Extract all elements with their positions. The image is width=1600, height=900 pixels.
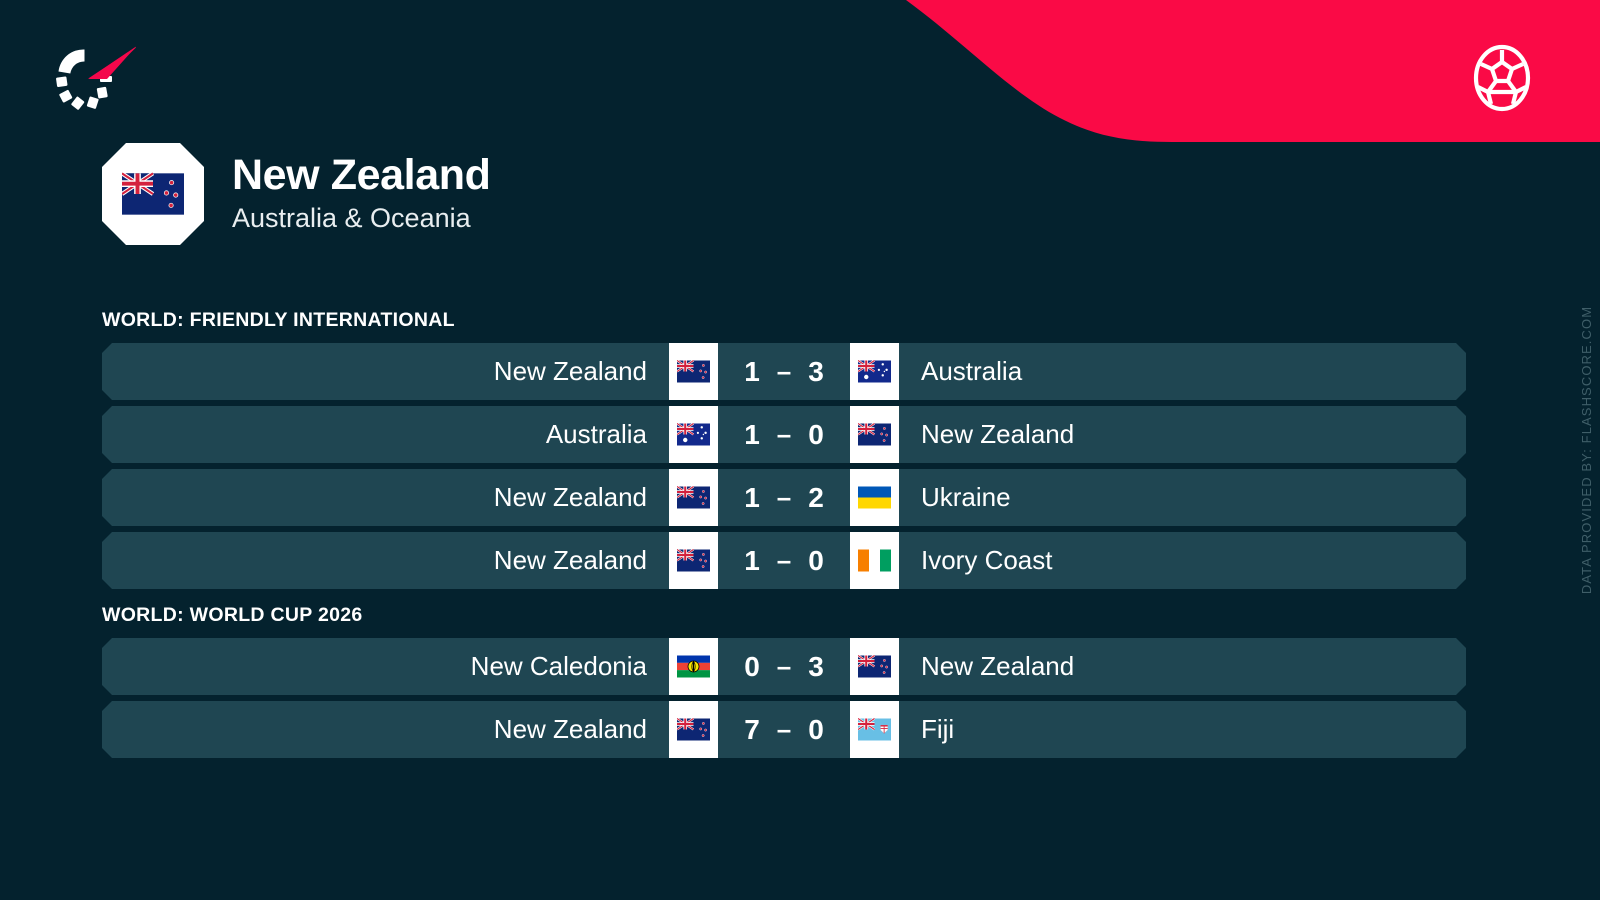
home-team-name: New Caledonia xyxy=(102,638,669,695)
home-team-name: New Zealand xyxy=(102,532,669,589)
match-row[interactable]: New Caledonia 0 – 3 xyxy=(102,638,1466,695)
soccer-ball-icon xyxy=(1466,42,1538,114)
away-team-name: Ivory Coast xyxy=(899,532,1466,589)
home-score: 1 xyxy=(744,419,760,451)
home-score: 0 xyxy=(744,651,760,683)
score-dash: – xyxy=(777,356,791,387)
data-provider-watermark: DATA PROVIDED BY: FLASHSCORE.COM xyxy=(1579,306,1594,594)
away-score: 0 xyxy=(808,714,824,746)
away-team-name: Australia xyxy=(899,343,1466,400)
away-team-flag-cell xyxy=(850,343,899,400)
away-team-name: New Zealand xyxy=(899,406,1466,463)
flag-australia xyxy=(858,360,891,383)
home-score: 1 xyxy=(744,482,760,514)
home-score: 1 xyxy=(744,545,760,577)
home-team-name: New Zealand xyxy=(102,343,669,400)
home-team-flag-cell xyxy=(669,532,718,589)
home-team-name: New Zealand xyxy=(102,469,669,526)
score-cell: 0 – 3 xyxy=(718,638,850,695)
team-name-block: New Zealand Australia & Oceania xyxy=(232,152,490,237)
team-flag-badge xyxy=(102,143,204,245)
home-score: 1 xyxy=(744,356,760,388)
match-row[interactable]: New Zealand 1 – 2 xyxy=(102,469,1466,526)
away-score: 3 xyxy=(808,651,824,683)
score-cell: 1 – 3 xyxy=(718,343,850,400)
home-score: 7 xyxy=(744,714,760,746)
flashscore-logo[interactable] xyxy=(44,36,144,116)
match-row[interactable]: New Zealand 1 – 0 xyxy=(102,532,1466,589)
soccer-ball-glyph xyxy=(1466,42,1538,114)
away-team-flag-cell xyxy=(850,701,899,758)
score-dash: – xyxy=(777,545,791,576)
away-team-name: Fiji xyxy=(899,701,1466,758)
flag-new-caledonia xyxy=(677,655,710,678)
section-title: WORLD: FRIENDLY INTERNATIONAL xyxy=(102,300,1466,343)
away-team-flag-cell xyxy=(850,406,899,463)
flag-new-zealand xyxy=(858,423,891,446)
home-team-flag-cell xyxy=(669,701,718,758)
away-team-flag-cell xyxy=(850,532,899,589)
team-header: New Zealand Australia & Oceania xyxy=(102,143,490,245)
flag-ivory-coast xyxy=(858,549,891,572)
flag-new-zealand xyxy=(122,172,184,216)
away-score: 3 xyxy=(808,356,824,388)
flag-new-zealand xyxy=(677,549,710,572)
score-dash: – xyxy=(777,714,791,745)
match-row[interactable]: New Zealand 1 – 3 xyxy=(102,343,1466,400)
flag-fiji xyxy=(858,718,891,741)
score-dash: – xyxy=(777,419,791,450)
home-team-flag-cell xyxy=(669,638,718,695)
flag-new-zealand xyxy=(858,655,891,678)
match-row[interactable]: New Zealand 7 – 0 xyxy=(102,701,1466,758)
away-team-name: New Zealand xyxy=(899,638,1466,695)
away-team-flag-cell xyxy=(850,638,899,695)
score-dash: – xyxy=(777,482,791,513)
flag-new-zealand xyxy=(677,486,710,509)
flashscore-logo-icon xyxy=(44,36,144,116)
match-list: WORLD: FRIENDLY INTERNATIONAL New Zealan… xyxy=(102,300,1466,764)
away-team-flag-cell xyxy=(850,469,899,526)
team-region: Australia & Oceania xyxy=(232,201,490,236)
page-title: New Zealand xyxy=(232,152,490,198)
score-cell: 7 – 0 xyxy=(718,701,850,758)
away-team-name: Ukraine xyxy=(899,469,1466,526)
home-team-name: Australia xyxy=(102,406,669,463)
flag-new-zealand xyxy=(677,360,710,383)
score-dash: – xyxy=(777,651,791,682)
flag-ukraine xyxy=(858,486,891,509)
flag-australia xyxy=(677,423,710,446)
away-score: 2 xyxy=(808,482,824,514)
score-cell: 1 – 2 xyxy=(718,469,850,526)
banner-shape xyxy=(0,0,1600,152)
away-score: 0 xyxy=(808,545,824,577)
home-team-flag-cell xyxy=(669,469,718,526)
home-team-flag-cell xyxy=(669,406,718,463)
score-cell: 1 – 0 xyxy=(718,532,850,589)
section-title: WORLD: WORLD CUP 2026 xyxy=(102,595,1466,638)
away-score: 0 xyxy=(808,419,824,451)
home-team-flag-cell xyxy=(669,343,718,400)
home-team-name: New Zealand xyxy=(102,701,669,758)
score-cell: 1 – 0 xyxy=(718,406,850,463)
match-row[interactable]: Australia 1 – 0 xyxy=(102,406,1466,463)
header-banner xyxy=(0,0,1600,152)
flag-new-zealand xyxy=(677,718,710,741)
